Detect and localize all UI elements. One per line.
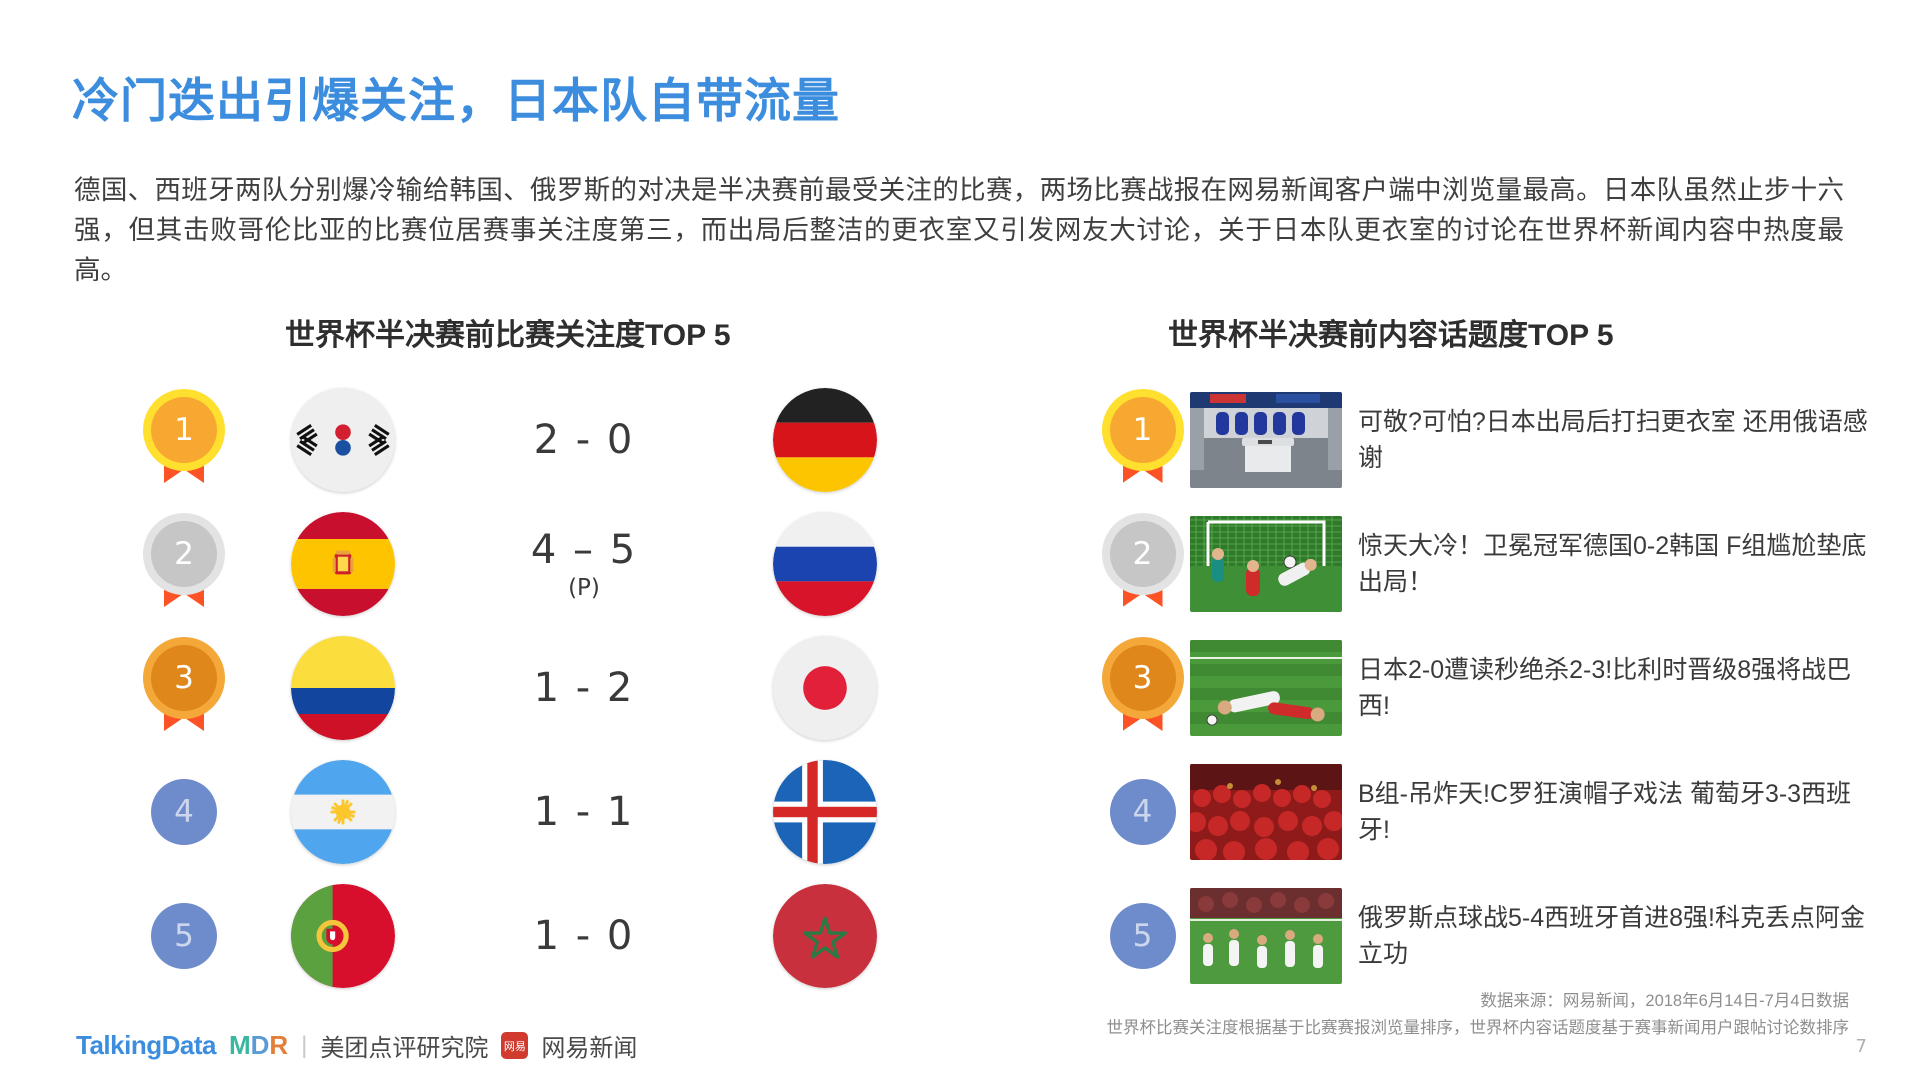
page-number: 7: [1856, 1036, 1867, 1057]
match-rank-cell: 5: [120, 903, 248, 969]
rank-badge-4: 4: [151, 779, 217, 845]
match-row: 5 1 - 0: [120, 874, 920, 998]
rank-badge-2: 2: [1110, 521, 1176, 607]
slide-canvas: 冷门迭出引爆关注，日本队自带流量 德国、西班牙两队分别爆冷输给韩国、俄罗斯的对决…: [0, 0, 1921, 1080]
rank-badge-2: 2: [151, 521, 217, 607]
home-team-cell: [248, 636, 438, 740]
brand-separator: |: [301, 1032, 307, 1060]
news-topic-list: 1 可敬?可怕?日本出局后打扫更衣室 还用俄语感谢 2: [1095, 378, 1885, 998]
rank-badge-1: 1: [1110, 397, 1176, 483]
match-rank-cell: 2: [120, 521, 248, 607]
match-score: 4 – 5 (P): [438, 527, 730, 601]
right-panel-title: 世界杯半决赛前内容话题度TOP 5: [1168, 310, 1614, 354]
netease-news-logo: 网易新闻: [541, 1028, 637, 1063]
flag-colombia-icon: [291, 636, 395, 740]
news-row[interactable]: 2 惊天大冷！卫冕冠军德国0-2韩国 F组尴尬垫底出局！: [1095, 502, 1885, 626]
news-rank-cell: 1: [1095, 397, 1190, 483]
match-score: 1 - 1: [438, 789, 730, 835]
rank-badge-5: 5: [1110, 903, 1176, 969]
match-score: 1 - 2: [438, 665, 730, 711]
score-main: 1 - 0: [534, 913, 635, 959]
match-row: 2 4 – 5 (P): [120, 502, 920, 626]
flag-germany-icon: [773, 388, 877, 492]
flag-morocco-icon: [773, 884, 877, 988]
away-team-cell: [730, 760, 920, 864]
home-team-cell: [248, 388, 438, 492]
news-row[interactable]: 4 B组-吊炸天!C罗狂演帽子戏法 葡萄牙3-3西班牙!: [1095, 750, 1885, 874]
flag-argentina-icon: [291, 760, 395, 864]
match-rank-cell: 3: [120, 645, 248, 731]
news-rank-cell: 4: [1095, 779, 1190, 845]
data-source-line: 数据来源：网易新闻，2018年6月14日-7月4日数据: [1107, 988, 1850, 1015]
flag-iceland-icon: [773, 760, 877, 864]
flag-portugal-icon: [291, 884, 395, 988]
match-row: 1 2 - 0: [120, 378, 920, 502]
mdr-letter-m: M: [229, 1030, 251, 1060]
pitch-tackle-photo[interactable]: [1190, 640, 1342, 736]
flag-south-korea-icon: [291, 388, 395, 492]
news-headline[interactable]: 日本2-0遭读秒绝杀2-3!比利时晋级8强将战巴西!: [1358, 652, 1885, 724]
match-score: 2 - 0: [438, 417, 730, 463]
news-headline[interactable]: 可敬?可怕?日本出局后打扫更衣室 还用俄语感谢: [1358, 404, 1885, 476]
left-panel-title: 世界杯半决赛前比赛关注度TOP 5: [285, 310, 731, 354]
away-team-cell: [730, 388, 920, 492]
away-team-cell: [730, 884, 920, 988]
match-row: 4 1 - 1: [120, 750, 920, 874]
medal-disc: 1: [151, 397, 217, 463]
rank-badge-3: 3: [1110, 645, 1176, 731]
match-row: 3 1 - 2: [120, 626, 920, 750]
match-rank-cell: 4: [120, 779, 248, 845]
celebration-photo[interactable]: [1190, 888, 1342, 984]
mdr-logo: MDR: [229, 1030, 288, 1061]
match-attention-list: 1 2 - 0 2: [120, 378, 920, 998]
flag-japan-icon: [773, 636, 877, 740]
news-headline[interactable]: B组-吊炸天!C罗狂演帽子戏法 葡萄牙3-3西班牙!: [1358, 776, 1885, 848]
flag-russia-icon: [773, 512, 877, 616]
news-rank-cell: 5: [1095, 903, 1190, 969]
rank-badge-5: 5: [151, 903, 217, 969]
news-row[interactable]: 1 可敬?可怕?日本出局后打扫更衣室 还用俄语感谢: [1095, 378, 1885, 502]
netease-mark-icon: 网易: [501, 1032, 528, 1059]
locker-room-photo[interactable]: [1190, 392, 1342, 488]
mdr-letter-d: D: [251, 1030, 270, 1060]
rank-badge-1: 1: [151, 397, 217, 483]
match-rank-cell: 1: [120, 397, 248, 483]
medal-disc: 3: [1110, 645, 1176, 711]
intro-paragraph: 德国、西班牙两队分别爆冷输给韩国、俄罗斯的对决是半决赛前最受关注的比赛，两场比赛…: [74, 170, 1844, 290]
flag-spain-icon: [291, 512, 395, 616]
brand-bar: TalkingData MDR | 美团点评研究院 网易 网易新闻: [76, 1028, 637, 1063]
goal-save-photo[interactable]: [1190, 516, 1342, 612]
score-note: (P): [568, 575, 600, 601]
home-team-cell: [248, 512, 438, 616]
medal-disc: 1: [1110, 397, 1176, 463]
home-team-cell: [248, 884, 438, 988]
mdr-letter-r: R: [269, 1030, 288, 1060]
away-team-cell: [730, 636, 920, 740]
medal-disc: 2: [151, 521, 217, 587]
score-main: 4 – 5: [531, 527, 637, 573]
meituan-research-logo: 美团点评研究院: [320, 1028, 488, 1063]
news-rank-cell: 2: [1095, 521, 1190, 607]
news-headline[interactable]: 俄罗斯点球战5-4西班牙首进8强!科克丢点阿金立功: [1358, 900, 1885, 972]
news-row[interactable]: 3 日本2-0遭读秒绝杀2-3!比利时晋级8强将战巴西!: [1095, 626, 1885, 750]
news-row[interactable]: 5 俄罗斯点球战5-4西班牙首进8强!科克丢点阿金立功: [1095, 874, 1885, 998]
medal-disc: 2: [1110, 521, 1176, 587]
rank-badge-3: 3: [151, 645, 217, 731]
away-team-cell: [730, 512, 920, 616]
red-crowd-photo[interactable]: [1190, 764, 1342, 860]
score-main: 1 - 1: [534, 789, 635, 835]
news-headline[interactable]: 惊天大冷！卫冕冠军德国0-2韩国 F组尴尬垫底出局！: [1358, 528, 1885, 600]
rank-badge-4: 4: [1110, 779, 1176, 845]
score-main: 1 - 2: [534, 665, 635, 711]
methodology-line: 世界杯比赛关注度根据基于比赛赛报浏览量排序，世界杯内容话题度基于赛事新闻用户跟帖…: [1107, 1015, 1850, 1042]
score-main: 2 - 0: [534, 417, 635, 463]
page-title: 冷门迭出引爆关注，日本队自带流量: [72, 62, 840, 131]
medal-disc: 3: [151, 645, 217, 711]
home-team-cell: [248, 760, 438, 864]
footer-notes: 数据来源：网易新闻，2018年6月14日-7月4日数据 世界杯比赛关注度根据基于…: [1107, 988, 1850, 1042]
talkingdata-logo: TalkingData: [76, 1030, 216, 1061]
news-rank-cell: 3: [1095, 645, 1190, 731]
match-score: 1 - 0: [438, 913, 730, 959]
